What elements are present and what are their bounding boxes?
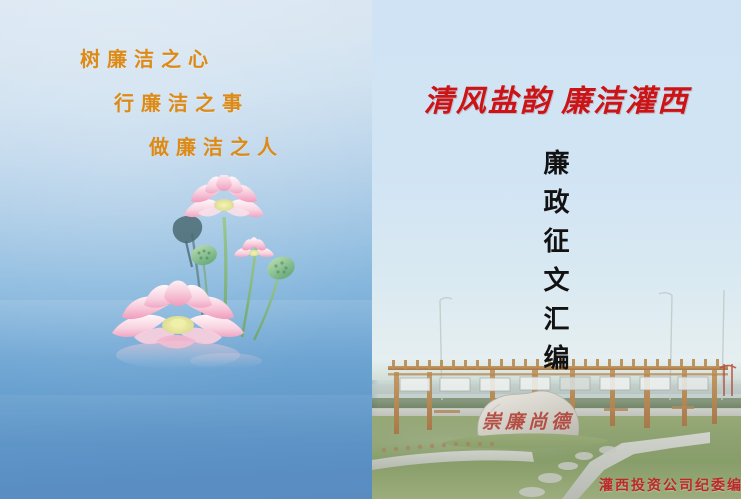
vertical-title-char-3: 征	[543, 228, 569, 254]
slogan-line-3: 做廉洁之人	[149, 138, 372, 158]
cover-title: 清风盐韵 廉洁灌西	[372, 76, 741, 120]
publisher-credit: 灌西投资公司纪委编	[599, 475, 741, 495]
vertical-title: 廉 政 征 文 汇 编	[372, 150, 741, 384]
slogan-line-1: 树廉洁之心	[80, 50, 372, 70]
back-cover-slogan: 树廉洁之心 行廉洁之事 做廉洁之人	[0, 50, 372, 158]
vertical-title-char-4: 文	[543, 267, 569, 293]
front-cover-panel: 崇廉尚德 清风盐韵 廉洁灌西	[372, 0, 741, 499]
vertical-title-char-2: 政	[543, 189, 569, 215]
vertical-title-char-1: 廉	[543, 150, 569, 176]
slogan-line-2: 行廉洁之事	[114, 94, 372, 114]
water-sheen-lower	[0, 395, 372, 445]
cover-spread: 树廉洁之心 行廉洁之事 做廉洁之人	[0, 0, 741, 499]
vertical-title-char-5: 汇	[543, 306, 569, 332]
vertical-title-char-6: 编	[543, 345, 569, 371]
stone-inscription: 崇廉尚德	[482, 411, 574, 433]
lotus-illustration	[96, 175, 311, 375]
back-cover-panel: 树廉洁之心 行廉洁之事 做廉洁之人	[0, 0, 372, 499]
